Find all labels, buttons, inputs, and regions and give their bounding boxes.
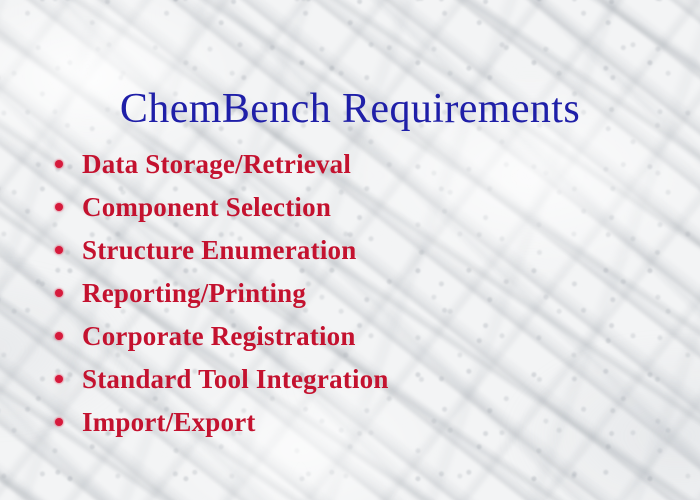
presentation-slide: ChemBench Requirements Data Storage/Retr…: [0, 0, 700, 500]
bullet-dot-icon: [55, 332, 63, 340]
list-item: Data Storage/Retrieval: [52, 142, 389, 185]
slide-title: ChemBench Requirements: [0, 86, 700, 132]
list-item: Corporate Registration: [52, 314, 389, 357]
list-item: Structure Enumeration: [52, 228, 389, 271]
list-item-label: Reporting/Printing: [82, 278, 306, 308]
list-item-label: Data Storage/Retrieval: [82, 149, 351, 179]
list-item-label: Standard Tool Integration: [82, 364, 389, 394]
list-item-label: Component Selection: [82, 192, 331, 222]
bullet-dot-icon: [55, 289, 63, 297]
bullet-dot-icon: [55, 160, 63, 168]
list-item: Import/Export: [52, 400, 389, 443]
bullet-dot-icon: [55, 246, 63, 254]
bullet-dot-icon: [55, 203, 63, 211]
list-item-label: Corporate Registration: [82, 321, 356, 351]
list-item: Component Selection: [52, 185, 389, 228]
list-item: Reporting/Printing: [52, 271, 389, 314]
list-item-label: Structure Enumeration: [82, 235, 356, 265]
list-item-label: Import/Export: [82, 407, 256, 437]
list-item: Standard Tool Integration: [52, 357, 389, 400]
bullet-dot-icon: [55, 418, 63, 426]
requirements-bullet-list: Data Storage/Retrieval Component Selecti…: [52, 142, 389, 443]
bullet-dot-icon: [55, 375, 63, 383]
slide-content: ChemBench Requirements Data Storage/Retr…: [0, 0, 700, 500]
